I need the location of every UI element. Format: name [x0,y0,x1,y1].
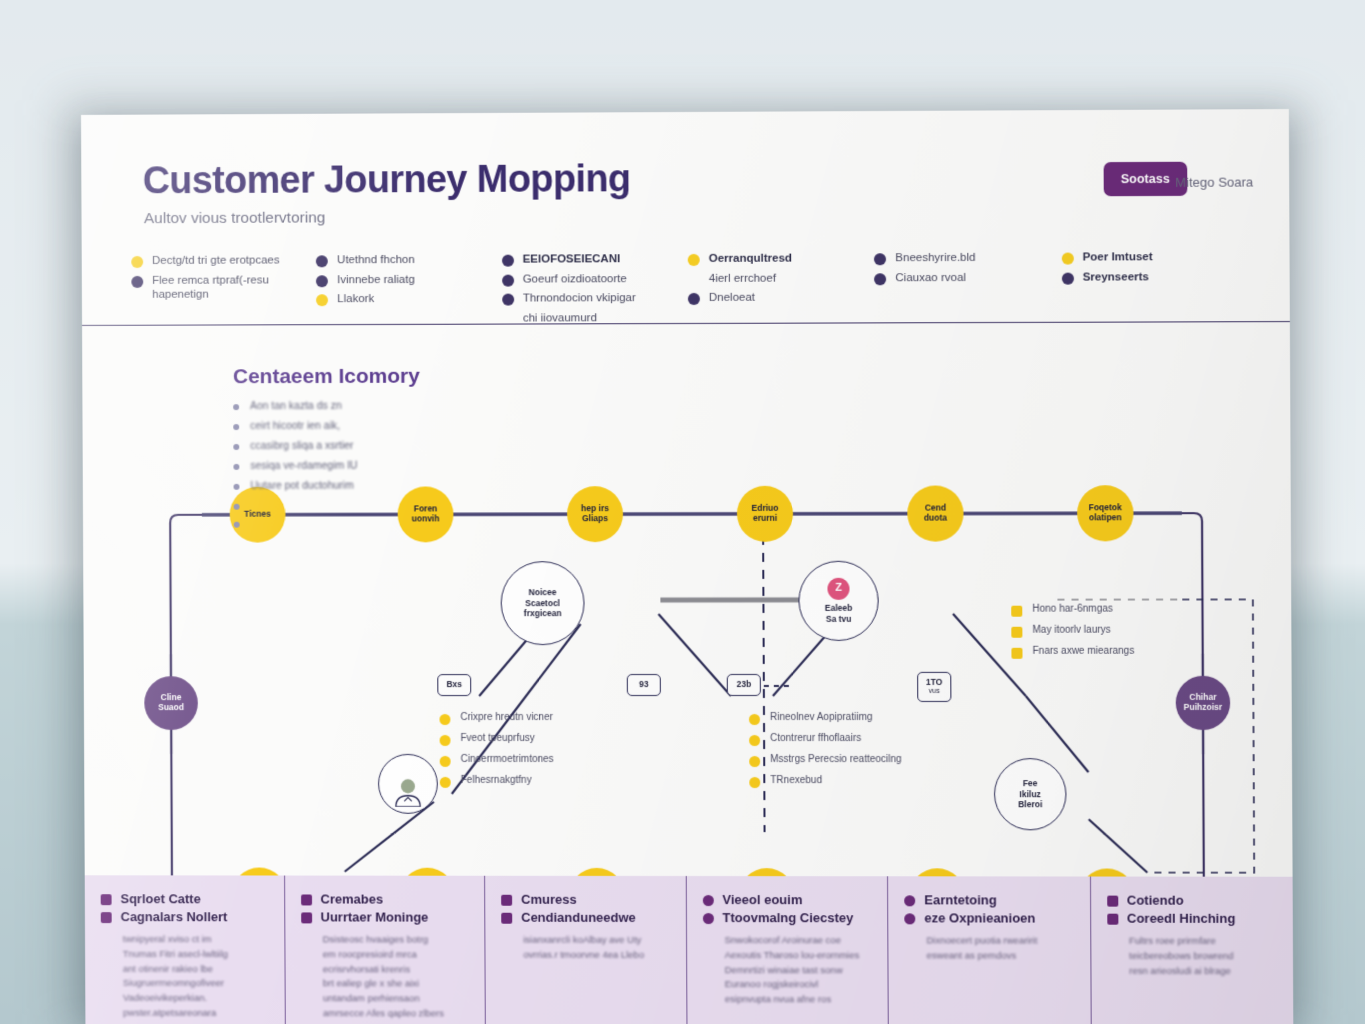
legend-dot-yellow-icon [131,256,143,268]
insight-bullet-label: Uutare pot ductohurim [250,480,353,492]
legend-item: Ivinnebe raliatg [316,272,494,287]
legend-dot-purple-icon [874,273,886,285]
insight-bullet-label: ceirt hicootr ien aik, [250,420,340,432]
node-label-line3: frxgicean [524,608,562,618]
legend-item: 4ierl errchoef [688,271,867,286]
bullet-marker-icon [1011,606,1022,617]
legend-dot-yellow-icon [316,295,328,307]
footer-marker-icon [1107,913,1118,924]
footer-card-6[interactable]: CotiendoCoreedl HinchingFultrs roee prir… [1090,877,1293,1024]
insight-bullet: Uutare pot ductohurim [233,479,522,492]
footer-card-body: Snwokocorof Aroinurae coeAexoutis Tharos… [725,934,874,1008]
footer-card-title: eze Oxpnieanioen [924,910,1035,926]
journey-node-center-right[interactable]: Z Ealeeb Sa tvu [798,561,879,641]
journey-node-top-6[interactable]: Foqetok olatipen [1077,485,1134,541]
badge-label: 1TO [924,678,944,688]
list-item: Rineolnev Aopipratiimg [749,712,1020,725]
legend-label: Oerranqultresd [709,252,792,267]
footer-card-line: esweant as pemdovs [927,949,1076,964]
footer-card-3[interactable]: CmuressCendianduneedweisianxanrcli koAlb… [485,876,687,1024]
footer-card-line: Euranoo rogjskeirocivl [725,978,874,993]
node-label-line2: Puihzoisr [1184,703,1223,713]
footer-card-heading: Uurrtaer Moninge [301,909,471,925]
legend-label: Dectg/td tri gte erotpcaes [152,254,280,269]
list-item: Msstrgs Perecsio reatteocilng [749,754,1020,767]
footer-marker-icon [101,912,112,923]
legend-dot-purple-icon [1062,272,1074,284]
node-label-line2: Sa tvu [826,613,852,623]
badge-label: 93 [634,680,654,690]
list-item-label: Fnars axwe miearangs [1033,646,1135,657]
footer-card-title: Sqrloet Catte [120,891,200,907]
list-item: Ctontrerur ffhoflaairs [749,733,1020,746]
footer-card-line: ovrrias.r tmoorvne 4ea Llebo [523,949,671,964]
node-label-line2: Gliaps [582,514,608,524]
legend-label: Sreynseerts [1083,270,1149,285]
bullet-dot-icon [233,464,239,470]
footer-card-body: Fultrs roee prirmfareteicbereobows browr… [1129,935,1279,980]
footer-card-title: Earntetoing [924,892,997,908]
footer-marker-icon [1107,896,1118,907]
footer-card-title: Uurrtaer Moninge [321,909,429,925]
legend-dot-purple-icon [316,255,328,267]
legend-item: Oerranqultresd [688,251,867,266]
legend-item: Dneloeat [688,291,867,306]
legend-label: Llakork [337,293,374,308]
footer-card-line: brt ealiep gle x she aixi [323,978,471,993]
footer-card-line: em roocpresioird mrca [323,948,471,963]
bullet-marker-icon [439,714,450,725]
footer-card-line: untandam perhiensaon [323,992,471,1007]
page-title: Customer Journey Mopping [143,158,631,203]
footer-card-1[interactable]: Sqrloet CatteCagnalars Nollerttwnipyeral… [85,875,286,1024]
insight-bullet-label: ccasibrg sliqa a xsrtier [250,440,353,452]
footer-card-line: amrsecce Afes qapleo zlbers [323,1007,471,1022]
legend-column-6: Poer ImtusetSreynseerts [1061,250,1249,313]
bullet-dot-icon [234,522,240,528]
footer-marker-icon [301,912,312,923]
legend-item: Dectg/td tri gte erotpcaes [131,253,308,268]
footer-card-line: Tnumas Fitri asecl-lwltiilg [123,948,270,963]
legend-label: Flee remca rtpraf(-resu hapenetign [152,273,308,303]
journey-map-poster: Customer Journey Mopping Aultov vious tr… [81,109,1293,1024]
legend-label: Poer Imtuset [1083,250,1153,265]
bullet-marker-icon [749,714,760,725]
list-item-label: Fveot tpeuprfusy [460,733,534,744]
footer-card-heading: Ttoovmalng Ciecstey [702,910,873,926]
insight-bullet: sesiqa ve-rdamegim IU [233,459,522,472]
avatar: Z [827,578,849,600]
footer-card-5[interactable]: Earntetoingeze OxpnieanioenDixnoecert pu… [888,876,1091,1024]
legend-label: EEIOFOSEIECANI [523,252,621,267]
footer-card-title: Coreedl Hinching [1127,910,1236,926]
person-icon [393,777,423,807]
list-item: Hono har-6nmgas [1011,603,1233,616]
footer-card-heading: Cagnalars Nollert [101,909,270,925]
legend-item: Thrnondocion vkipigar [502,291,680,306]
footer-card-body: Dixnoecert puotia rweariritesweant as pe… [926,935,1075,965]
center-panel-title: Centaeem Icomory [233,364,522,389]
footer-card-line: ant otinenir rakieo lbe [123,963,270,978]
status-badge-caption: Mitego Soara [1175,175,1253,190]
node-label-line1: Fee [1023,779,1038,789]
bullet-marker-icon [749,735,760,746]
footer-card-line: Snwokocorof Aroinurae coe [725,934,874,949]
legend-label: 4ierl errchoef [709,271,776,286]
badge-label: 23b [734,680,754,690]
bullet-marker-icon [1011,627,1022,638]
footer-card-line: isianxanrcli koAlbay ave Uty [523,934,671,949]
footer-card-line: ecrisrvhorsati krenris [323,963,471,978]
badge-sublabel: vus [924,688,944,696]
legend-label: Bneeshyrire.bld [895,251,975,266]
legend-label: Utethnd fhchon [337,253,415,268]
legend-item: Goeurf oizdioatoorte [502,272,680,287]
legend-label: Goeurf oizdioatoorte [523,272,627,287]
list-item: TRnexebud [749,775,1020,788]
legend-item: Bneeshyrire.bld [874,251,1053,266]
bullet-marker-icon [749,777,760,788]
footer-card-line: Vadeoeivikeperkian. [123,992,270,1007]
footer-card-line: Dsisteosc hvaaiges botrg [323,934,471,949]
list-item-label: Felhesrnakgtfny [461,775,532,786]
footer-card-line: Dixnoecert puotia rwearirit [926,935,1075,950]
footer-marker-icon [904,913,915,924]
legend-dot-purple-icon [316,275,328,287]
legend-label: Ivinnebe raliatg [337,273,415,288]
list-item-label: TRnexebud [770,775,822,786]
footer-card-body: Dsisteosc hvaaiges botrgem roocpresioird… [323,934,471,1022]
footer-marker-icon [301,894,312,905]
footer-card-line: esipnvupta nvua afne ros [725,993,874,1008]
node-label-line2: olatipen [1089,513,1122,523]
insight-bullet [234,499,523,509]
list-item-label: Msstrgs Perecsio reatteocilng [770,754,902,765]
footer-card-line: twnipyeral xviso ct im [123,933,270,948]
insight-bullet: ccasibrg sliqa a xsrtier [233,439,522,452]
bullet-marker-icon [749,756,760,767]
list-item-label: Rineolnev Aopipratiimg [770,712,873,723]
legend-label: Ciauxao rvoal [895,271,966,286]
list-item-label: May itoorlv laurys [1032,625,1110,636]
legend-dot-purple-icon [874,253,886,265]
bullet-dot-icon [233,444,239,450]
footer-card-title: Cmuress [521,892,577,908]
poster-header: Customer Journey Mopping Aultov vious tr… [81,109,1290,326]
node-label-line3: Bleroi [1018,799,1042,809]
footer-marker-icon [702,895,713,906]
legend-item: Sreynseerts [1061,270,1241,285]
legend-dot-purple-icon [502,294,514,306]
legend-column-1: Dectg/td tri gte erotpcaesFlee remca rtp… [131,253,316,315]
node-label-line2: Ikiluz [1020,789,1041,799]
footer-card-heading: Cmuress [501,892,671,908]
legend: Dectg/td tri gte erotpcaesFlee remca rtp… [131,250,1249,316]
legend-item: Flee remca rtpraf(-resu hapenetign [131,273,308,303]
journey-badge-1[interactable]: Bxs [437,674,471,696]
list-item: Felhesrnakgtfny [440,775,700,788]
legend-item: Llakork [316,292,494,307]
legend-item: EEIOFOSEIECANI [502,252,680,267]
center-insight-panel: Centaeem Icomory Aon tan kazta ds znceir… [233,364,522,535]
list-item-label: Ctontrerur ffhoflaairs [770,733,861,744]
legend-label: Thrnondocion vkipigar [523,292,636,307]
footer-marker-icon [101,894,112,905]
node-label-line2: Suaod [158,703,184,713]
footer-card-title: Ttoovmalng Ciecstey [722,910,853,926]
journey-node-left-entry[interactable]: Cline Suaod [144,676,198,730]
footer-card-line: Fultrs roee prirmfare [1129,935,1279,950]
list-item: Fnars axwe miearangs [1011,646,1233,659]
footer-card-line: pwster.atpetsareonara [123,1007,270,1022]
footer-card-heading: Coreedl Hinching [1107,910,1279,926]
legend-label: Dneloeat [709,291,755,306]
legend-column-4: Oerranqultresd4ierl errchoefDneloeat [688,251,875,314]
legend-dot-yellow-icon [688,254,700,266]
footer-card-body: isianxanrcli koAlbay ave Utyovrrias.r tm… [523,934,671,964]
bullet-dot-icon [233,424,239,430]
footer-card-line: Aexoutis Tharoso lou-erornmies [725,949,874,964]
footer-card-heading: Cendianduneedwe [501,909,671,925]
bullet-dot-icon [234,484,240,490]
legend-dot-purple-icon [502,274,514,286]
page-subtitle: Aultov vious trootlervtoring [144,209,325,228]
footer-card-line: Demnrtizi winaiae tast sonw [725,964,874,979]
footer-card-heading: Cotiendo [1107,893,1279,909]
journey-badge-4[interactable]: 1TO vus [917,672,951,702]
journey-node-top-5[interactable]: Cend duota [907,485,963,541]
footer-marker-icon [904,895,915,906]
persona-avatar-node[interactable] [378,754,438,814]
insight-bullet: Aon tan kazta ds zn [233,399,522,412]
footer-card-line: Siugruerrneomngofiveer [123,977,270,992]
footer-card-title: Cremabes [320,892,383,908]
bullet-group-left: Crixpre hreutn vicnerFveot tpeuprfusyCin… [439,712,699,796]
legend-dot-purple-icon [502,255,514,267]
list-item-label: Cinoerrmoetrimtones [461,754,554,765]
footer-card-2[interactable]: CremabesUurrtaer MoningeDsisteosc hvaaig… [285,876,486,1024]
badge-label: Bxs [444,680,464,690]
footer-marker-icon [702,913,713,924]
center-panel-bullets: Aon tan kazta ds znceirt hicootr ien aik… [233,399,522,527]
legend-item: Ciauxao rvoal [874,270,1053,285]
legend-item: Poer Imtuset [1061,250,1241,265]
bullet-marker-icon [1011,648,1022,659]
journey-badge-2[interactable]: 93 [627,674,661,696]
footer-card-heading: Vieeol eouim [702,892,873,908]
insight-bullet [234,517,523,527]
legend-item: Utethnd fhchon [316,253,494,268]
footer-marker-icon [501,912,512,923]
insight-bullet-label: Aon tan kazta ds zn [250,400,342,412]
legend-dot-purple-icon [688,293,700,305]
journey-node-right-exit[interactable]: Chihar Puihzoisr [1176,676,1231,730]
legend-column-2: Utethnd fhchonIvinnebe raliatgLlakork [316,253,502,316]
insight-bullet-label: sesiqa ve-rdamegim IU [250,460,357,472]
legend-dot-purple-icon [131,276,143,288]
list-item-label: Crixpre hreutn vicner [460,712,553,723]
footer-card-heading: Cremabes [301,891,471,907]
footer-card-title: Cagnalars Nollert [121,909,228,925]
node-label-line1: Ealeeb [825,603,853,613]
footer-card-heading: eze Oxpnieanioen [904,910,1075,926]
node-label-line2: erurni [753,514,777,524]
legend-column-3: EEIOFOSEIECANIGoeurf oizdioatoorteThrnon… [502,252,688,315]
bullet-group-right: Hono har-6nmgasMay itoorlv laurysFnars a… [1011,603,1233,666]
node-label-line2: duota [924,514,947,524]
bullet-dot-icon [234,504,240,510]
footer-card-line: resn arieosludi ai blrage [1129,964,1279,979]
footer-card-4[interactable]: Vieeol eouimTtoovmalng CiecsteySnwokocor… [686,876,889,1024]
node-label-line2: Scaetocl [525,598,560,608]
legend-column-5: Bneeshyrire.bldCiauxao rvoal [874,251,1061,314]
footer-phase-cards: Sqrloet CatteCagnalars Nollerttwnipyeral… [85,875,1294,1024]
journey-node-top-4[interactable]: Edriuo erurni [737,486,793,542]
footer-card-body: twnipyeral xviso ct imTnumas Fitri asecl… [123,933,271,1021]
bullet-dot-icon [233,404,239,410]
list-item: Fveot tpeuprfusy [440,733,700,746]
journey-node-top-3[interactable]: hep irs Gliaps [567,486,623,542]
bullet-marker-icon [440,735,451,746]
footer-card-heading: Earntetoing [904,892,1075,908]
journey-badge-3[interactable]: 23b [727,674,761,696]
list-item: Cinoerrmoetrimtones [440,754,700,767]
bullet-marker-icon [440,756,451,767]
footer-card-title: Vieeol eouim [722,892,802,908]
node-label-line1: Noicee [529,588,557,598]
footer-marker-icon [501,895,512,906]
list-item: Crixpre hreutn vicner [439,712,699,725]
insight-bullet: ceirt hicootr ien aik, [233,419,522,432]
list-item-label: Hono har-6nmgas [1032,604,1113,615]
legend-dot-yellow-icon [1061,253,1073,265]
footer-card-line: teicbereobows browrend [1129,950,1279,965]
footer-card-title: Cotiendo [1127,893,1184,909]
bullet-group-mid: Rineolnev AopipratiimgCtontrerur ffhofla… [749,712,1020,796]
list-item: May itoorlv laurys [1011,625,1233,638]
footer-card-title: Cendianduneedwe [521,909,636,925]
bullet-marker-icon [440,777,451,788]
journey-node-center-left[interactable]: Noicee Scaetocl frxgicean [500,561,584,645]
footer-card-heading: Sqrloet Catte [101,891,270,907]
